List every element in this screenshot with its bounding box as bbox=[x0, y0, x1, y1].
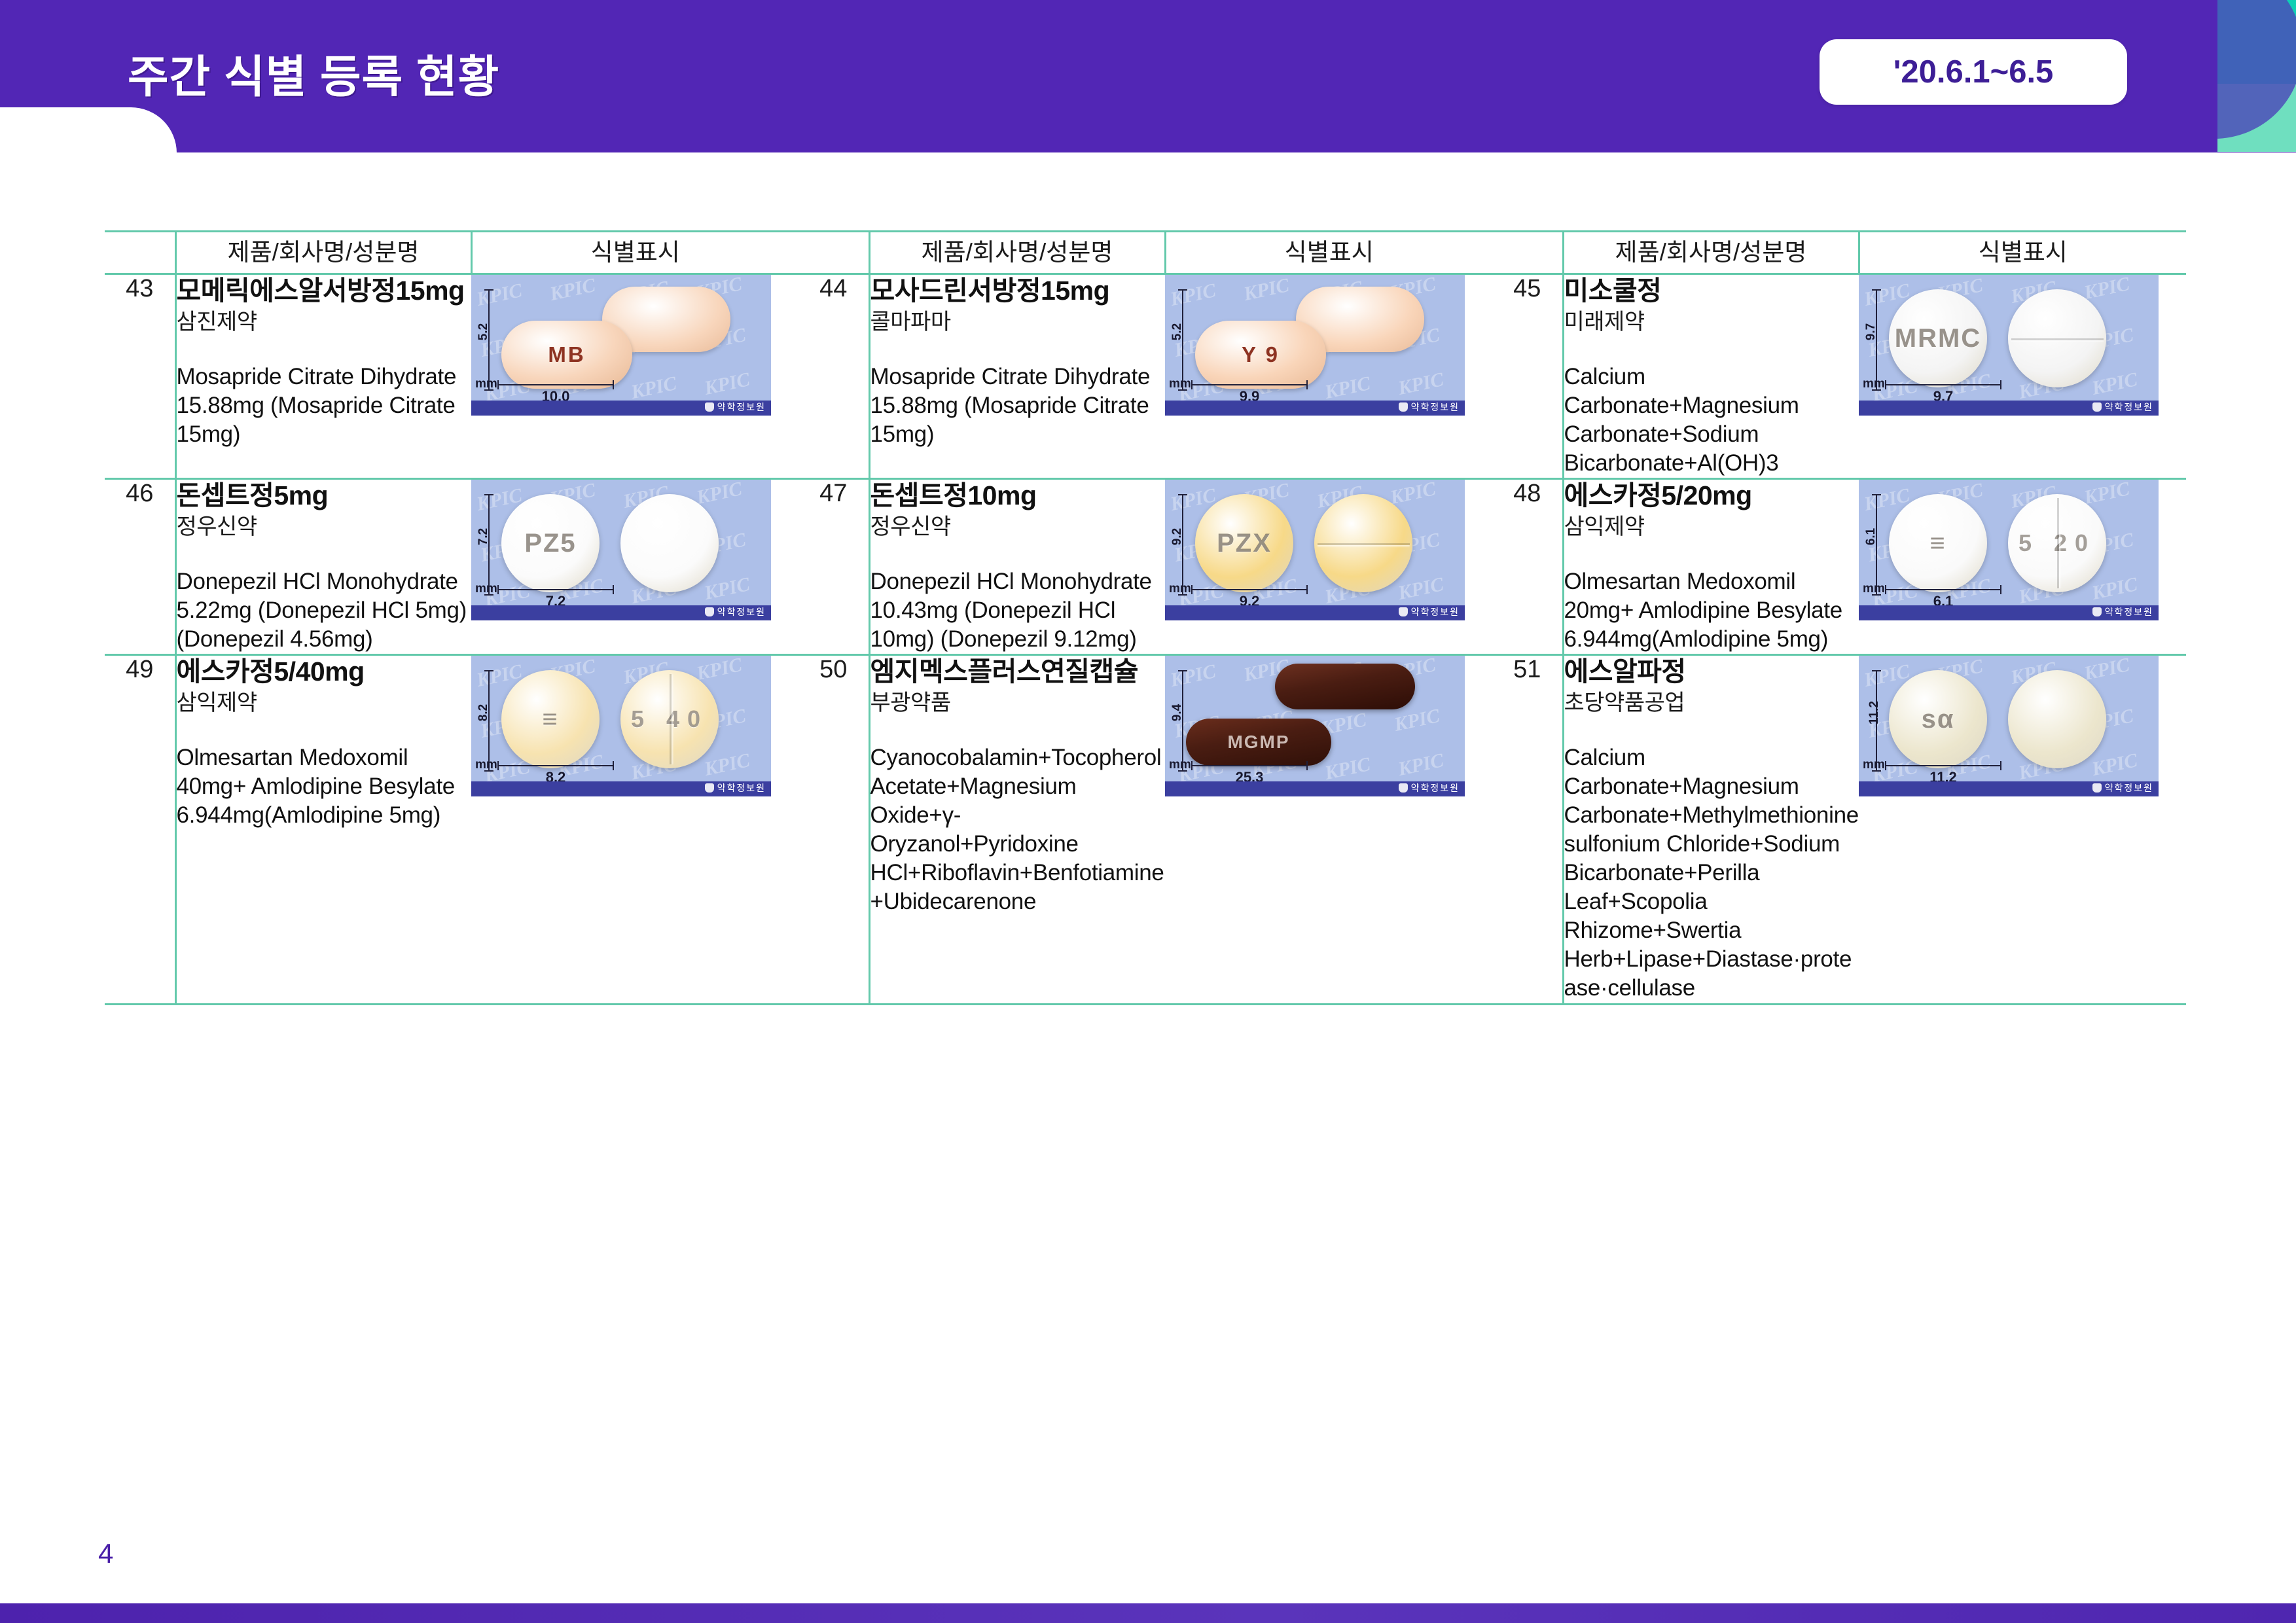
pill-imprint-text: MGMP bbox=[1186, 719, 1331, 766]
height-dimension-label: 11.2 bbox=[1867, 701, 1882, 724]
footer-bar bbox=[0, 1603, 2296, 1623]
kpic-watermark: KPIC bbox=[1388, 480, 1438, 509]
drug-table-wrapper: 제품/회사명/성분명 식별표시 제품/회사명/성분명 식별표시 제품/회사명/성… bbox=[105, 230, 2186, 1005]
entry-photo-cell: KPICKPICKPICKPICKPICKPICKPICKPICKPICKPIC… bbox=[1165, 274, 1492, 479]
table-row: 49 에스카정5/40mg 삼익제약 Olmesartan Medoxomil … bbox=[105, 655, 2186, 1005]
pill-front-view: sα bbox=[1889, 670, 1987, 768]
col-header-imprint-1: 식별표시 bbox=[471, 232, 798, 274]
pill-photo: KPICKPICKPICKPICKPICKPICKPICKPICKPICKPIC… bbox=[1165, 275, 1465, 416]
kpic-watermark: KPIC bbox=[1396, 749, 1446, 781]
product-name: 엠지멕스플러스연질캡슐 bbox=[870, 656, 1166, 688]
photo-source-label: 약학정보원 bbox=[705, 605, 766, 618]
entry-info-cell: 엠지멕스플러스연질캡슐 부광약품 Cyanocobalamin+Tocopher… bbox=[869, 655, 1165, 1005]
pill-front-view: PZ5 bbox=[501, 494, 600, 592]
entry-index: 47 bbox=[798, 479, 869, 655]
kpic-watermark: KPIC bbox=[1396, 573, 1446, 605]
width-dimension-bar bbox=[497, 384, 614, 385]
col-header-product-1: 제품/회사명/성분명 bbox=[175, 232, 471, 274]
company-name: 삼진제약 bbox=[177, 308, 472, 336]
pill-photo: KPICKPICKPICKPICKPICKPICKPICKPICKPICKPIC… bbox=[1859, 275, 2159, 416]
kpic-watermark: KPIC bbox=[1396, 368, 1446, 400]
pill-front-view: PZX bbox=[1195, 494, 1293, 592]
page-title: 주간 식별 등록 현황 bbox=[128, 41, 499, 105]
entry-info-cell: 돈셉트정5mg 정우신약 Donepezil HCl Monohydrate 5… bbox=[175, 479, 471, 655]
entry-info-cell: 모사드린서방정15mg 콜마파마 Mosapride Citrate Dihyd… bbox=[869, 274, 1165, 479]
entry-info-cell: 미소쿨정 미래제약 Calcium Carbonate+Magnesium Ca… bbox=[1563, 274, 1859, 479]
ingredient-list: Donepezil HCl Monohydrate 5.22mg (Donepe… bbox=[177, 567, 472, 654]
height-dimension-label: 9.4 bbox=[1170, 704, 1185, 721]
pill-back-view bbox=[1314, 494, 1412, 592]
kpic-watermark: KPIC bbox=[475, 279, 524, 311]
shield-icon bbox=[1399, 402, 1408, 412]
kpic-watermark: KPIC bbox=[2090, 368, 2140, 400]
pill-score-line bbox=[670, 674, 672, 764]
entry-photo-cell: KPICKPICKPICKPICKPICKPICKPICKPICKPICKPIC… bbox=[1859, 655, 2186, 1005]
entry-info-cell: 모메릭에스알서방정15mg 삼진제약 Mosapride Citrate Dih… bbox=[175, 274, 471, 479]
pill-front-view: MRMC bbox=[1889, 289, 1987, 387]
entry-photo-cell: KPICKPICKPICKPICKPICKPICKPICKPICKPICKPIC… bbox=[1859, 274, 2186, 479]
photo-source-label: 약학정보원 bbox=[1399, 605, 1460, 618]
ingredient-list: Calcium Carbonate+Magnesium Carbonate+Me… bbox=[1564, 743, 1859, 1003]
ingredient-list: Donepezil HCl Monohydrate 10.43mg (Donep… bbox=[870, 567, 1166, 654]
page-header: 주간 식별 등록 현황 '20.6.1~6.5 bbox=[0, 0, 2296, 166]
ingredient-list: Mosapride Citrate Dihydrate 15.88mg (Mos… bbox=[870, 363, 1166, 449]
pill-score-line bbox=[2011, 338, 2104, 340]
entry-index: 45 bbox=[1492, 274, 1563, 479]
height-dimension-label: 6.1 bbox=[1864, 528, 1878, 545]
entry-info-cell: 에스카정5/40mg 삼익제약 Olmesartan Medoxomil 40m… bbox=[175, 655, 471, 1005]
height-dimension-label: 5.2 bbox=[1170, 323, 1185, 340]
pill-front-view: MGMP bbox=[1186, 719, 1331, 766]
shield-icon bbox=[1399, 607, 1408, 616]
product-name: 모메릭에스알서방정15mg bbox=[177, 275, 472, 307]
unit-label: mm bbox=[1863, 582, 1885, 596]
width-dimension-bar bbox=[497, 589, 614, 590]
pill-photo: KPICKPICKPICKPICKPICKPICKPICKPICKPICKPIC… bbox=[1165, 656, 1465, 796]
entry-photo-cell: KPICKPICKPICKPICKPICKPICKPICKPICKPICKPIC… bbox=[1165, 479, 1492, 655]
entry-index: 50 bbox=[798, 655, 869, 1005]
drug-identification-table: 제품/회사명/성분명 식별표시 제품/회사명/성분명 식별표시 제품/회사명/성… bbox=[105, 230, 2186, 1005]
pill-back-view: 5 40 bbox=[620, 670, 719, 768]
product-name: 에스알파정 bbox=[1564, 656, 1859, 688]
product-name: 미소쿨정 bbox=[1564, 275, 1859, 307]
table-row: 46 돈셉트정5mg 정우신약 Donepezil HCl Monohydrat… bbox=[105, 479, 2186, 655]
pill-photo: KPICKPICKPICKPICKPICKPICKPICKPICKPICKPIC… bbox=[471, 480, 771, 620]
entry-info-cell: 돈셉트정10mg 정우신약 Donepezil HCl Monohydrate … bbox=[869, 479, 1165, 655]
pill-photo: KPICKPICKPICKPICKPICKPICKPICKPICKPICKPIC… bbox=[1859, 656, 2159, 796]
pill-imprint-text: ≡ bbox=[1889, 494, 1987, 592]
entry-index: 51 bbox=[1492, 655, 1563, 1005]
kpic-watermark: KPIC bbox=[1168, 660, 1218, 692]
pill-back-view: 5 20 bbox=[2008, 494, 2106, 592]
table-body: 43 모메릭에스알서방정15mg 삼진제약 Mosapride Citrate … bbox=[105, 274, 2186, 1005]
company-name: 초당약품공업 bbox=[1564, 689, 1859, 717]
company-name: 부광약품 bbox=[870, 689, 1166, 717]
pill-front-view: Y 9 bbox=[1195, 321, 1326, 389]
height-dimension-label: 5.2 bbox=[476, 323, 491, 340]
unit-label: mm bbox=[475, 377, 497, 391]
pill-imprint-text: PZ5 bbox=[501, 494, 600, 592]
entry-index: 46 bbox=[105, 479, 175, 655]
pill-imprint-text: Y 9 bbox=[1195, 321, 1326, 389]
page-number: 4 bbox=[98, 1538, 113, 1569]
pill-score-line bbox=[1318, 543, 1410, 545]
kpic-watermark: KPIC bbox=[2082, 656, 2132, 685]
col-header-imprint-3: 식별표시 bbox=[1859, 232, 2186, 274]
photo-source-label: 약학정보원 bbox=[2092, 605, 2153, 618]
height-dimension-label: 9.2 bbox=[1170, 528, 1185, 545]
pill-imprint-text: sα bbox=[1889, 670, 1987, 768]
pill-imprint-text: MRMC bbox=[1889, 289, 1987, 387]
kpic-watermark: KPIC bbox=[2082, 275, 2132, 304]
table-header-row: 제품/회사명/성분명 식별표시 제품/회사명/성분명 식별표시 제품/회사명/성… bbox=[105, 232, 2186, 274]
width-dimension-bar bbox=[1885, 384, 2001, 385]
shield-icon bbox=[705, 783, 714, 793]
ingredient-list: Calcium Carbonate+Magnesium Carbonate+So… bbox=[1564, 363, 1859, 478]
shield-icon bbox=[1399, 783, 1408, 793]
kpic-watermark: KPIC bbox=[1392, 705, 1442, 736]
kpic-watermark: KPIC bbox=[1323, 372, 1372, 404]
table-row: 43 모메릭에스알서방정15mg 삼진제약 Mosapride Citrate … bbox=[105, 274, 2186, 479]
unit-label: mm bbox=[1169, 758, 1191, 772]
ingredient-list: Olmesartan Medoxomil 20mg+ Amlodipine Be… bbox=[1564, 567, 1859, 654]
photo-source-label: 약학정보원 bbox=[705, 781, 766, 794]
kpic-watermark: KPIC bbox=[2090, 749, 2140, 781]
shield-icon bbox=[2092, 402, 2102, 412]
company-name: 정우신약 bbox=[177, 513, 472, 541]
entry-index: 43 bbox=[105, 274, 175, 479]
unit-label: mm bbox=[1169, 377, 1191, 391]
company-name: 미래제약 bbox=[1564, 308, 1859, 336]
ingredient-list: Olmesartan Medoxomil 40mg+ Amlodipine Be… bbox=[177, 743, 472, 830]
unit-label: mm bbox=[1169, 582, 1191, 596]
entry-photo-cell: KPICKPICKPICKPICKPICKPICKPICKPICKPICKPIC… bbox=[471, 479, 798, 655]
kpic-watermark: KPIC bbox=[1168, 279, 1218, 311]
header-divider bbox=[0, 152, 2296, 211]
pill-back-view bbox=[2008, 670, 2106, 768]
company-name: 삼익제약 bbox=[1564, 513, 1859, 541]
company-name: 삼익제약 bbox=[177, 689, 472, 717]
entry-info-cell: 에스카정5/20mg 삼익제약 Olmesartan Medoxomil 20m… bbox=[1563, 479, 1859, 655]
photo-source-label: 약학정보원 bbox=[1399, 401, 1460, 414]
pill-imprint-text: ≡ bbox=[501, 670, 600, 768]
kpic-watermark: KPIC bbox=[548, 275, 598, 306]
date-range-badge: '20.6.1~6.5 bbox=[1820, 39, 2127, 105]
pill-photo: KPICKPICKPICKPICKPICKPICKPICKPICKPICKPIC… bbox=[471, 275, 771, 416]
width-dimension-bar bbox=[497, 765, 614, 766]
entry-info-cell: 에스알파정 초당약품공업 Calcium Carbonate+Magnesium… bbox=[1563, 655, 1859, 1005]
width-dimension-bar bbox=[1885, 765, 2001, 766]
width-dimension-bar bbox=[1191, 765, 1308, 766]
kpic-watermark: KPIC bbox=[702, 573, 752, 605]
unit-label: mm bbox=[475, 582, 497, 596]
product-name: 모사드린서방정15mg bbox=[870, 275, 1166, 307]
col-header-product-3: 제품/회사명/성분명 bbox=[1563, 232, 1859, 274]
shield-icon bbox=[705, 607, 714, 616]
entry-photo-cell: KPICKPICKPICKPICKPICKPICKPICKPICKPICKPIC… bbox=[1165, 655, 1492, 1005]
pill-imprint-text: PZX bbox=[1195, 494, 1293, 592]
entry-index: 49 bbox=[105, 655, 175, 1005]
col-header-index-3 bbox=[1492, 232, 1563, 274]
pill-photo: KPICKPICKPICKPICKPICKPICKPICKPICKPICKPIC… bbox=[1165, 480, 1465, 620]
col-header-index-2 bbox=[798, 232, 869, 274]
product-name: 에스카정5/40mg bbox=[177, 656, 472, 688]
col-header-product-2: 제품/회사명/성분명 bbox=[869, 232, 1165, 274]
ingredient-list: Mosapride Citrate Dihydrate 15.88mg (Mos… bbox=[177, 363, 472, 449]
pill-front-view: ≡ bbox=[501, 670, 600, 768]
pill-score-line bbox=[2057, 498, 2059, 588]
entry-photo-cell: KPICKPICKPICKPICKPICKPICKPICKPICKPICKPIC… bbox=[471, 655, 798, 1005]
pill-back-view bbox=[2008, 289, 2106, 387]
shield-icon bbox=[2092, 607, 2102, 616]
unit-label: mm bbox=[475, 758, 497, 772]
shield-icon bbox=[705, 402, 714, 412]
entry-photo-cell: KPICKPICKPICKPICKPICKPICKPICKPICKPICKPIC… bbox=[1859, 479, 2186, 655]
height-dimension-label: 8.2 bbox=[476, 704, 491, 721]
pill-front-view: MB bbox=[501, 321, 632, 389]
photo-source-label: 약학정보원 bbox=[2092, 401, 2153, 414]
pill-photo: KPICKPICKPICKPICKPICKPICKPICKPICKPICKPIC… bbox=[1859, 480, 2159, 620]
product-name: 돈셉트정5mg bbox=[177, 480, 472, 512]
kpic-watermark: KPIC bbox=[702, 368, 752, 400]
col-header-imprint-2: 식별표시 bbox=[1165, 232, 1492, 274]
pill-front-view: ≡ bbox=[1889, 494, 1987, 592]
company-name: 정우신약 bbox=[870, 513, 1166, 541]
decor-corner-notch bbox=[0, 107, 177, 153]
shield-icon bbox=[2092, 783, 2102, 793]
kpic-watermark: KPIC bbox=[1242, 275, 1291, 306]
col-header-index-1 bbox=[105, 232, 175, 274]
width-dimension-bar bbox=[1885, 589, 2001, 590]
photo-source-label: 약학정보원 bbox=[705, 401, 766, 414]
pill-back-view bbox=[620, 494, 719, 592]
company-name: 콜마파마 bbox=[870, 308, 1166, 336]
product-name: 돈셉트정10mg bbox=[870, 480, 1166, 512]
kpic-watermark: KPIC bbox=[694, 480, 744, 509]
unit-label: mm bbox=[1863, 758, 1885, 772]
ingredient-list: Cyanocobalamin+Tocopherol Acetate+Magnes… bbox=[870, 743, 1166, 917]
entry-index: 48 bbox=[1492, 479, 1563, 655]
width-dimension-bar bbox=[1191, 384, 1308, 385]
photo-source-label: 약학정보원 bbox=[1399, 781, 1460, 794]
entry-index: 44 bbox=[798, 274, 869, 479]
width-dimension-bar bbox=[1191, 589, 1308, 590]
photo-source-label: 약학정보원 bbox=[2092, 781, 2153, 794]
pill-photo: KPICKPICKPICKPICKPICKPICKPICKPICKPICKPIC… bbox=[471, 656, 771, 796]
entry-photo-cell: KPICKPICKPICKPICKPICKPICKPICKPICKPICKPIC… bbox=[471, 274, 798, 479]
unit-label: mm bbox=[1863, 377, 1885, 391]
kpic-watermark: KPIC bbox=[629, 372, 679, 404]
product-name: 에스카정5/20mg bbox=[1564, 480, 1859, 512]
pill-imprint-text: MB bbox=[501, 321, 632, 389]
date-range-label: '20.6.1~6.5 bbox=[1893, 54, 2054, 90]
pill-back-view bbox=[1275, 664, 1415, 709]
height-dimension-label: 9.7 bbox=[1864, 323, 1878, 340]
height-dimension-label: 7.2 bbox=[476, 528, 491, 545]
